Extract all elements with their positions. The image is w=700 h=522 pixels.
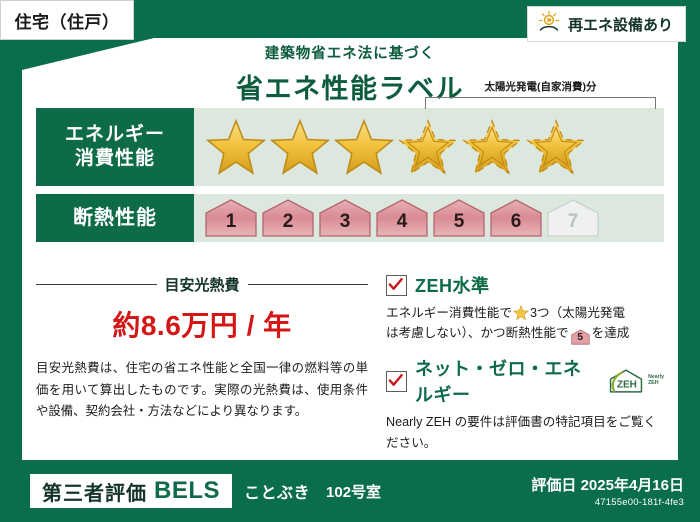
insulation-performance-row: 断熱性能 1 2 <box>36 194 664 242</box>
star-solar-4 <box>398 118 458 176</box>
label-sheet: 建築物省エネ法に基づく 省エネ性能ラベル エネルギー 消費性能 太陽光発電(自家… <box>22 26 678 462</box>
inline-grade-value: 5 <box>571 329 590 346</box>
property-name: ことぶき <box>244 479 310 503</box>
star-solar-5 <box>462 118 522 176</box>
insulation-grades-panel: 1 2 3 4 <box>194 194 664 242</box>
grade-badge-1: 1 <box>204 198 258 238</box>
grade-badge-7: 7 <box>546 198 600 238</box>
cost-value: 約8.6万円 / 年 <box>36 304 368 344</box>
net-zero-body: Nearly ZEH の要件は評価書の特記項目をご覧ください。 <box>386 412 664 453</box>
energy-performance-label: 住宅（住戸） 再エネ設備あり 建築物省エネ法に基づく 省エネ性能 <box>0 0 700 522</box>
grade-badge-3: 3 <box>318 198 372 238</box>
utility-cost-block: 目安光熱費 約8.6万円 / 年 目安光熱費は、住宅の省エネ性能と全国一律の燃料… <box>36 272 374 463</box>
zeh-body-part2: は考慮しない）、かつ断熱性能で <box>386 326 569 340</box>
rule-right <box>248 284 369 285</box>
energy-label-line2: 消費性能 <box>75 148 155 169</box>
bels-en-label: BELS <box>154 477 220 505</box>
bels-logo: 第三者評価 BELS <box>30 474 232 508</box>
grade-badge-4: 4 <box>375 198 429 238</box>
title-block: 建築物省エネ法に基づく 省エネ性能ラベル <box>22 42 678 106</box>
performance-area: エネルギー 消費性能 太陽光発電(自家消費)分 <box>36 108 664 250</box>
net-zero-block: ネット・ゼロ・エネルギー ZEH Nearly ZEH <box>386 355 664 453</box>
energy-performance-row: エネルギー 消費性能 太陽光発電(自家消費)分 <box>36 108 664 186</box>
inline-star-icon <box>513 305 529 321</box>
zeh-sub-line2: ZEH <box>648 380 658 386</box>
grade-badge-2: 2 <box>261 198 315 238</box>
category-tag: 住宅（住戸） <box>0 0 134 40</box>
zeh-standard-head: ZEH水準 <box>386 272 664 298</box>
grade-value-4: 4 <box>397 211 408 238</box>
grade-value-6: 6 <box>511 211 522 238</box>
star-filled-3 <box>334 118 394 176</box>
grade-value-2: 2 <box>283 211 294 238</box>
zeh-logo-icon: ZEH Nearly ZEH <box>606 368 664 394</box>
insulation-performance-label: 断熱性能 <box>36 194 194 242</box>
checkbox-checked-icon <box>386 275 407 296</box>
lower-section: 目安光熱費 約8.6万円 / 年 目安光熱費は、住宅の省エネ性能と全国一律の燃料… <box>36 272 664 463</box>
cost-note: 目安光熱費は、住宅の省エネ性能と全国一律の燃料等の単価を用いて算出したものです。… <box>36 358 368 423</box>
title-subtitle: 建築物省エネ法に基づく <box>22 42 678 63</box>
page-title: 省エネ性能ラベル <box>22 67 678 106</box>
svg-text:ZEH: ZEH <box>617 380 637 391</box>
energy-performance-label: エネルギー 消費性能 <box>36 108 194 186</box>
document-id: 47155e00-181f-4fe3 <box>531 497 684 508</box>
star-filled-2 <box>270 118 330 176</box>
cost-heading: 目安光熱費 <box>165 274 240 295</box>
evaluation-date: 評価日 2025年4月16日 <box>531 474 684 495</box>
cost-heading-row: 目安光熱費 <box>36 274 368 295</box>
footer-meta: 評価日 2025年4月16日 47155e00-181f-4fe3 <box>531 474 684 508</box>
grade-value-1: 1 <box>226 211 237 238</box>
zeh-standard-block: ZEH水準 エネルギー消費性能で3つ（太陽光発電は考慮しない）、かつ断熱性能で5… <box>386 272 664 345</box>
grade-value-3: 3 <box>340 211 351 238</box>
zeh-body-stars: 3つ（太陽光発電 <box>530 306 625 320</box>
checkbox-checked-icon-2 <box>386 371 407 392</box>
certification-block: ZEH水準 エネルギー消費性能で3つ（太陽光発電は考慮しない）、かつ断熱性能で5… <box>374 272 664 463</box>
star-solar-6 <box>526 118 586 176</box>
rule-left <box>36 284 157 285</box>
insulation-grade-list: 1 2 3 4 <box>194 198 600 238</box>
star-rating <box>194 118 664 176</box>
grade-value-7: 7 <box>568 211 579 238</box>
zeh-body-part3: を達成 <box>592 326 630 340</box>
zeh-logo-subtext: Nearly ZEH <box>648 375 664 387</box>
energy-stars-panel: 太陽光発電(自家消費)分 <box>194 108 664 186</box>
room-number: 102号室 <box>326 481 381 502</box>
net-zero-title: ネット・ゼロ・エネルギー <box>415 355 595 407</box>
star-filled-1 <box>206 118 266 176</box>
net-zero-head: ネット・ゼロ・エネルギー ZEH Nearly ZEH <box>386 355 664 407</box>
zeh-standard-body: エネルギー消費性能で3つ（太陽光発電は考慮しない）、かつ断熱性能で5を達成 <box>386 303 664 345</box>
grade-badge-6: 6 <box>489 198 543 238</box>
zeh-body-part1: エネルギー消費性能で <box>386 306 512 320</box>
renewable-badge-label: 再エネ設備あり <box>568 14 673 35</box>
sun-icon <box>537 10 561 39</box>
energy-label-line1: エネルギー <box>65 124 165 145</box>
bels-jp-label: 第三者評価 <box>42 477 147 506</box>
footer-bar: 第三者評価 BELS ことぶき 102号室 評価日 2025年4月16日 471… <box>0 460 700 522</box>
renewable-energy-badge: 再エネ設備あり <box>527 6 686 42</box>
inline-grade-badge: 5 <box>571 329 590 345</box>
grade-value-5: 5 <box>454 211 465 238</box>
zeh-standard-title: ZEH水準 <box>415 272 490 298</box>
grade-badge-5: 5 <box>432 198 486 238</box>
